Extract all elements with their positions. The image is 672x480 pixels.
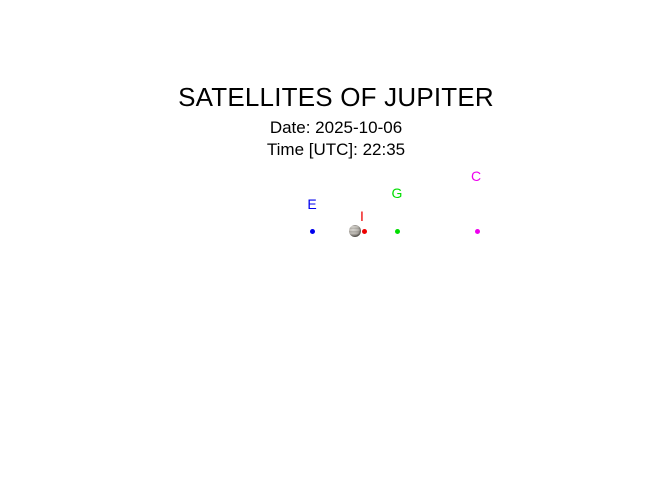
- moon-label-io: I: [360, 209, 364, 223]
- jupiter-disk: [349, 225, 361, 237]
- moon-marker-europa: [310, 229, 315, 234]
- moon-label-ganymede: G: [392, 186, 403, 200]
- moon-label-europa: E: [307, 197, 316, 211]
- sky-plot-area: EIGC: [0, 0, 672, 480]
- moon-marker-ganymede: [395, 229, 400, 234]
- moon-marker-callisto: [475, 229, 480, 234]
- moon-marker-io: [362, 229, 367, 234]
- satellites-of-jupiter-view: SATELLITES OF JUPITER Date: 2025-10-06 T…: [0, 0, 672, 480]
- moon-label-callisto: C: [471, 169, 481, 183]
